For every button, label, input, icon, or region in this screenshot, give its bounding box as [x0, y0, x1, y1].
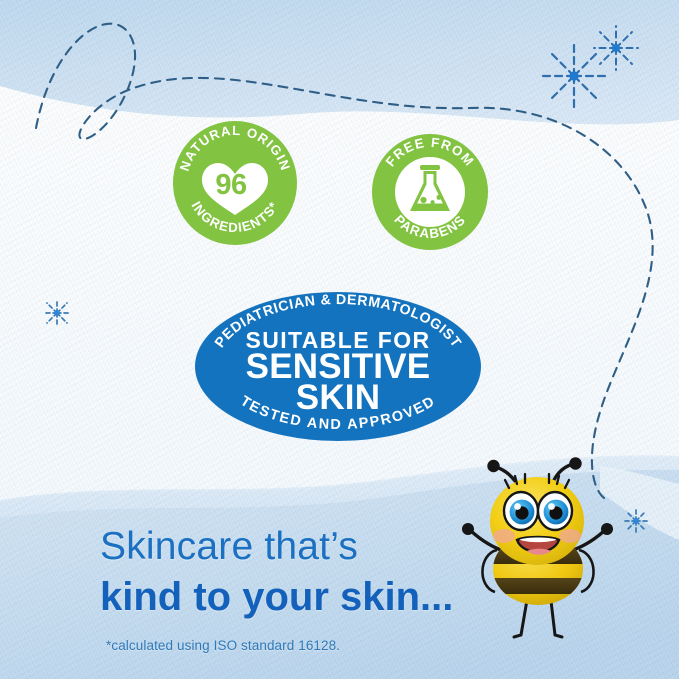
bee-antenna-tip-right	[569, 457, 581, 469]
badge-free-from-parabens[interactable]: FREE FROM PARABENS	[372, 134, 488, 250]
headline-line-2: kind to your skin...	[100, 574, 570, 620]
badge-suitable-for-sensitive-skin[interactable]: SUITABLE FOR SENSITIVE SKIN PEDIATRICIAN…	[195, 292, 481, 441]
badge-center-value: 96	[215, 169, 247, 201]
product-claims-panel: 96 % NATURAL ORIGIN INGREDIENTS*	[0, 0, 679, 679]
snowflake-large-top-right	[540, 42, 608, 110]
footnote-text: *calculated using ISO standard 16128.	[106, 638, 340, 653]
headline-line-1: Skincare that’s	[100, 524, 570, 570]
headline-block: Skincare that’s kind to your skin...	[100, 524, 570, 620]
bee-antenna-tip-left	[487, 460, 499, 472]
badge-natural-origin-ingredients[interactable]: 96 % NATURAL ORIGIN INGREDIENTS*	[173, 121, 297, 245]
badge-center-unit: %	[251, 164, 264, 181]
snowflake-left	[43, 299, 71, 327]
badge-line-3: SKIN	[296, 378, 380, 417]
bee-hand-right	[601, 523, 613, 535]
snowflake-small-top-right	[594, 26, 638, 70]
